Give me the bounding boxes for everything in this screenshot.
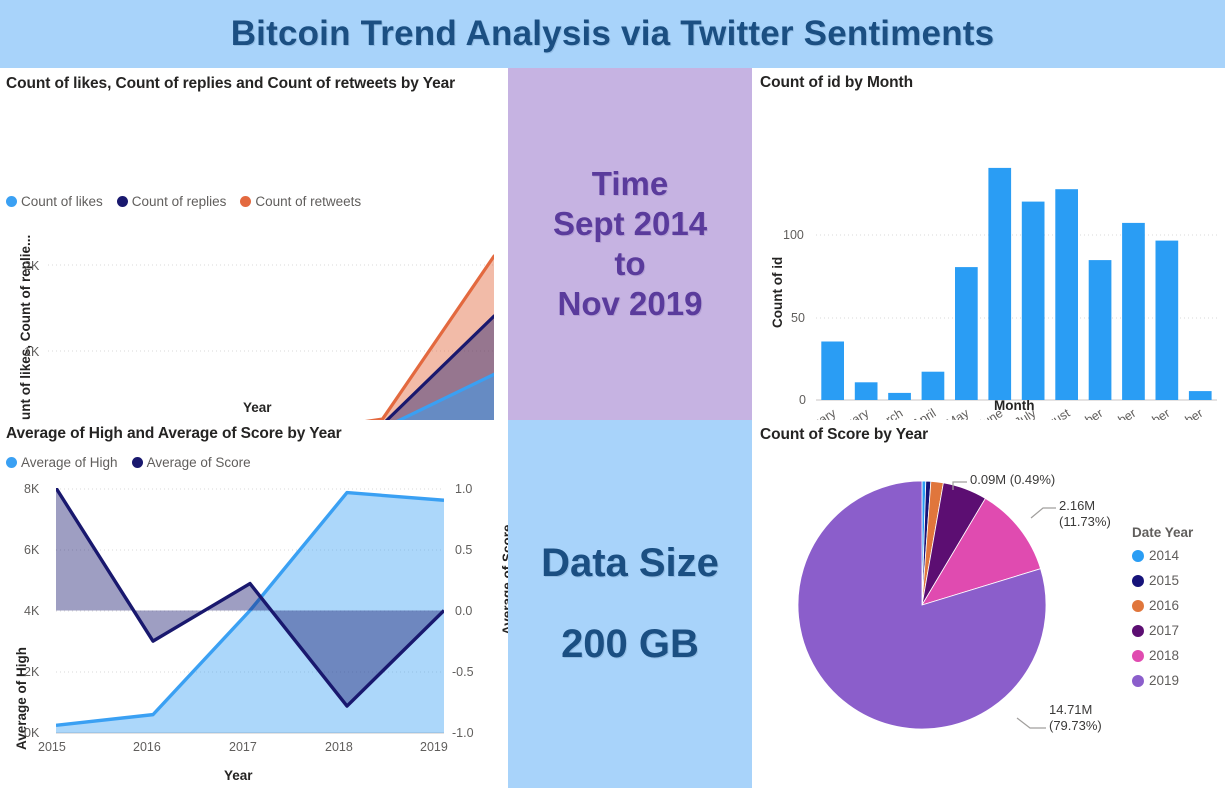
legend-item-likes[interactable]: Count of likes bbox=[6, 194, 103, 209]
x-tick-high-2015: 2015 bbox=[38, 740, 66, 754]
legend-item-average-high[interactable]: Average of High bbox=[6, 455, 118, 470]
legend-dot-average-score bbox=[132, 457, 143, 468]
x-tick-high-2016: 2016 bbox=[133, 740, 161, 754]
y-tick-high-0k: 0K bbox=[24, 726, 39, 740]
kpi-data-size-label: Data Size bbox=[541, 541, 719, 586]
x-axis-title-month: Month bbox=[994, 398, 1034, 413]
y-tick-high-6k: 6K bbox=[24, 543, 39, 557]
x-axis-title-counts: Year bbox=[243, 400, 272, 415]
pie-legend-label-2014: 2014 bbox=[1149, 548, 1179, 563]
legend-label-likes: Count of likes bbox=[21, 194, 103, 209]
y-tick-counts-1k: 1K bbox=[24, 345, 39, 359]
kpi-time-end: Nov 2019 bbox=[558, 285, 703, 323]
x-tick-high-2019: 2019 bbox=[420, 740, 448, 754]
legend-item-average-score[interactable]: Average of Score bbox=[132, 455, 251, 470]
pie-legend-item-2014[interactable]: 2014 bbox=[1132, 548, 1193, 563]
kpi-time-range: Time Sept 2014 to Nov 2019 bbox=[508, 68, 752, 420]
y-tick-score-0: 0.0 bbox=[455, 604, 472, 618]
dashboard: Bitcoin Trend Analysis via Twitter Senti… bbox=[0, 0, 1225, 788]
pie-legend-dot-2017 bbox=[1132, 625, 1144, 637]
chart-counts-by-year[interactable]: Count of likes, Count of replies and Cou… bbox=[0, 68, 508, 420]
page-title: Bitcoin Trend Analysis via Twitter Senti… bbox=[231, 14, 995, 54]
legend-label-retweets: Count of retweets bbox=[255, 194, 361, 209]
pie-legend-item-2017[interactable]: 2017 bbox=[1132, 623, 1193, 638]
legend-dot-replies bbox=[117, 196, 128, 207]
x-tick-high-2017: 2017 bbox=[229, 740, 257, 754]
pie-legend-dot-2018 bbox=[1132, 650, 1144, 662]
pie-legend-dot-2016 bbox=[1132, 600, 1144, 612]
pie-legend-label-2015: 2015 bbox=[1149, 573, 1179, 588]
y-tick-high-8k: 8K bbox=[24, 482, 39, 496]
x-tick-high-2018: 2018 bbox=[325, 740, 353, 754]
pie-legend-label-2017: 2017 bbox=[1149, 623, 1179, 638]
y-tick-score-1: 1.0 bbox=[455, 482, 472, 496]
kpi-data-size-value: 200 GB bbox=[561, 622, 699, 667]
legend-dot-average-high bbox=[6, 457, 17, 468]
pie-legend-dot-2019 bbox=[1132, 675, 1144, 687]
chart-title-counts-by-year: Count of likes, Count of replies and Cou… bbox=[6, 74, 486, 95]
y-tick-score-neg0-5: -0.5 bbox=[452, 665, 474, 679]
pie-legend-item-2019[interactable]: 2019 bbox=[1132, 673, 1193, 688]
pie-label-2019: 14.71M (79.73%) bbox=[1049, 702, 1102, 735]
leader-line-2018 bbox=[1031, 508, 1056, 518]
legend-counts-by-year: Count of likes Count of replies Count of… bbox=[6, 194, 361, 209]
legend-item-replies[interactable]: Count of replies bbox=[117, 194, 227, 209]
pie-legend-dot-2015 bbox=[1132, 575, 1144, 587]
chart-title-count-score-by-year: Count of Score by Year bbox=[760, 425, 928, 446]
kpi-time-start: Sept 2014 bbox=[553, 205, 707, 243]
chart-title-count-id-by-month: Count of id by Month bbox=[760, 73, 913, 94]
y-tick-high-2k: 2K bbox=[24, 665, 39, 679]
y-tick-score-0-5: 0.5 bbox=[455, 543, 472, 557]
pie-label-2014: 0.09M (0.49%) bbox=[970, 472, 1055, 488]
pie-label-2018: 2.16M (11.73%) bbox=[1059, 498, 1111, 531]
pie-legend-item-2015[interactable]: 2015 bbox=[1132, 573, 1193, 588]
pie-legend-label-2016: 2016 bbox=[1149, 598, 1179, 613]
chart-title-high-score: Average of High and Average of Score by … bbox=[6, 424, 486, 445]
x-axis-title-high-score: Year bbox=[224, 768, 253, 783]
pie-legend: Date Year 201420152016201720182019 bbox=[1132, 525, 1193, 698]
legend-label-average-high: Average of High bbox=[21, 455, 118, 470]
legend-label-average-score: Average of Score bbox=[147, 455, 251, 470]
legend-dot-likes bbox=[6, 196, 17, 207]
leader-line-2019 bbox=[1017, 718, 1046, 728]
kpi-time-label: Time bbox=[592, 165, 668, 203]
kpi-time-separator: to bbox=[614, 245, 645, 283]
kpi-data-size: Data Size 200 GB bbox=[508, 420, 752, 788]
y-tick-month-100: 100 bbox=[783, 228, 804, 242]
legend-item-retweets[interactable]: Count of retweets bbox=[240, 194, 361, 209]
chart-high-and-score-by-year[interactable]: Average of High and Average of Score by … bbox=[0, 420, 508, 788]
y-tick-counts-2k: 2K bbox=[24, 259, 39, 273]
pie-legend-item-2016[interactable]: 2016 bbox=[1132, 598, 1193, 613]
pie-legend-item-2018[interactable]: 2018 bbox=[1132, 648, 1193, 663]
legend-dot-retweets bbox=[240, 196, 251, 207]
chart-count-score-by-year[interactable]: Count of Score by Year 0.09M (0.49%) 2.1… bbox=[752, 420, 1225, 788]
dashboard-header: Bitcoin Trend Analysis via Twitter Senti… bbox=[0, 0, 1225, 68]
pie-legend-label-2018: 2018 bbox=[1149, 648, 1179, 663]
y-tick-high-4k: 4K bbox=[24, 604, 39, 618]
pie-legend-label-2019: 2019 bbox=[1149, 673, 1179, 688]
plot-area-count-id-by-month[interactable] bbox=[816, 152, 1217, 402]
y-tick-month-50: 50 bbox=[791, 311, 805, 325]
y-tick-month-0: 0 bbox=[799, 393, 806, 407]
chart-count-id-by-month[interactable]: Count of id by Month Count of id 100 50 … bbox=[752, 68, 1225, 420]
pie-legend-title: Date Year bbox=[1132, 525, 1193, 540]
y-axis-title-count-id: Count of id bbox=[770, 257, 785, 328]
legend-high-score: Average of High Average of Score bbox=[6, 455, 251, 470]
y-tick-score-neg1: -1.0 bbox=[452, 726, 474, 740]
pie-legend-dot-2014 bbox=[1132, 550, 1144, 562]
legend-label-replies: Count of replies bbox=[132, 194, 227, 209]
plot-area-high-and-score[interactable] bbox=[56, 488, 444, 740]
